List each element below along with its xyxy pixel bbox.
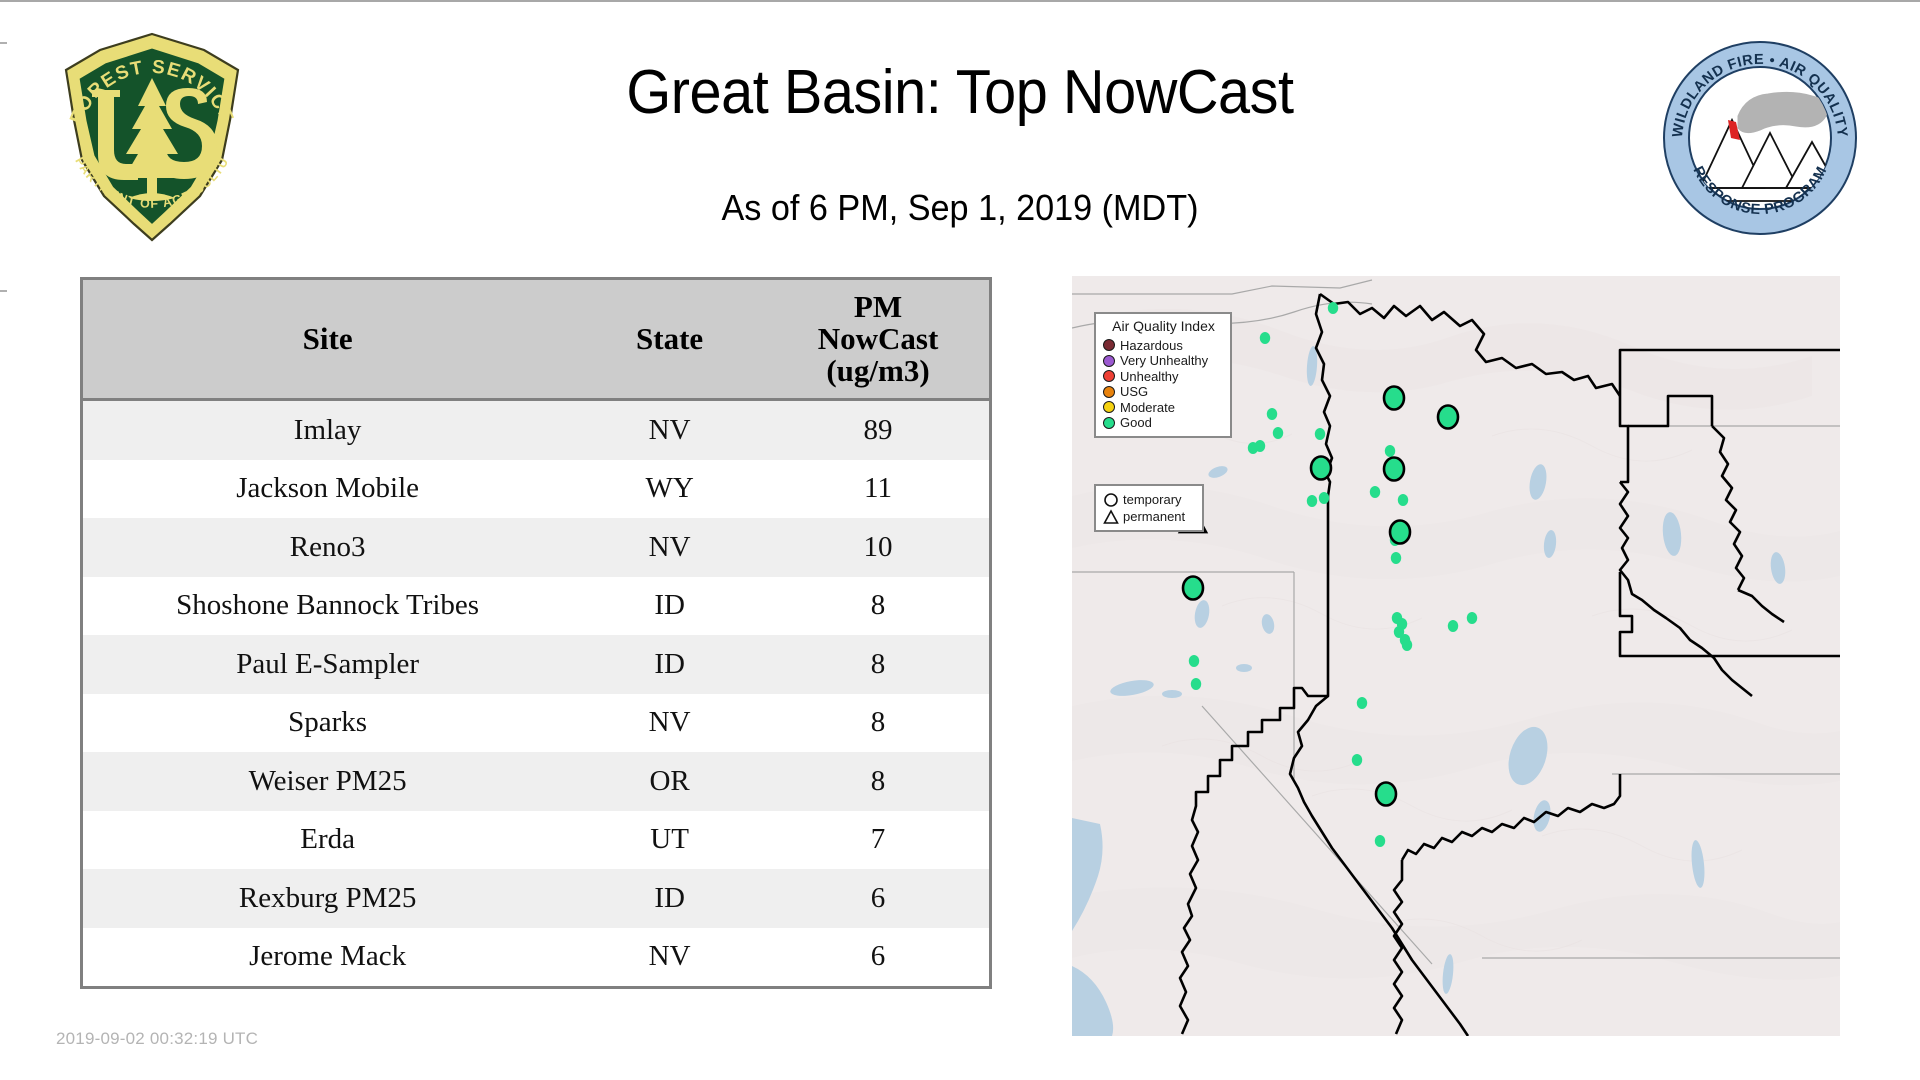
- map-monitor-small[interactable]: [1191, 678, 1201, 690]
- pm-cell: 8: [767, 752, 989, 811]
- map-monitor-temporary[interactable]: [1384, 458, 1404, 481]
- aqi-legend-label: Moderate: [1120, 401, 1175, 414]
- state-cell: ID: [572, 635, 767, 694]
- state-cell: ID: [572, 577, 767, 636]
- map-monitor-small[interactable]: [1319, 492, 1329, 504]
- aqi-legend-label: Hazardous: [1120, 339, 1183, 352]
- aqi-legend-item: Very Unhealthy: [1103, 353, 1224, 369]
- map-monitor-temporary[interactable]: [1311, 457, 1331, 480]
- page-subtitle: As of 6 PM, Sep 1, 2019 (MDT): [48, 187, 1872, 229]
- state-cell: NV: [572, 694, 767, 753]
- map-monitor-temporary[interactable]: [1390, 521, 1410, 544]
- site-cell: Paul E-Sampler: [83, 635, 572, 694]
- legend-row-permanent: permanent: [1103, 508, 1196, 525]
- map-monitor-small[interactable]: [1370, 486, 1380, 498]
- site-cell: Weiser PM25: [83, 752, 572, 811]
- aqi-color-dot-icon: [1103, 417, 1115, 429]
- map-monitor-small[interactable]: [1267, 408, 1277, 420]
- state-cell: NV: [572, 400, 767, 460]
- map-monitor-small[interactable]: [1448, 620, 1458, 632]
- nowcast-table: Site State PM NowCast (ug/m3) ImlayNV89J…: [83, 280, 989, 986]
- map-monitor-small[interactable]: [1391, 552, 1401, 564]
- aqi-legend-items: HazardousVery UnhealthyUnhealthyUSGModer…: [1103, 337, 1224, 430]
- aqi-color-dot-icon: [1103, 355, 1115, 367]
- monitor-type-legend: temporary permanent: [1094, 484, 1204, 532]
- pm-cell: 6: [767, 928, 989, 987]
- slide-root: FOREST SERVICE DEPARTMENT OF AGRICULTURE: [0, 0, 1920, 1080]
- edge-tick-top: [0, 42, 7, 44]
- column-header-pm-nowcast: PM NowCast (ug/m3): [767, 280, 989, 400]
- site-cell: Reno3: [83, 518, 572, 577]
- map-monitor-small[interactable]: [1307, 495, 1317, 507]
- state-cell: ID: [572, 869, 767, 928]
- aqi-legend-label: Good: [1120, 416, 1152, 429]
- aqi-legend-item: Hazardous: [1103, 337, 1224, 353]
- table-row: Jackson MobileWY11: [83, 460, 989, 519]
- pm-header-line-2: NowCast: [818, 321, 939, 356]
- page-title: Great Basin: Top NowCast: [67, 57, 1853, 128]
- pm-cell: 8: [767, 694, 989, 753]
- map-monitor-temporary[interactable]: [1376, 783, 1396, 806]
- table-row: Jerome MackNV6: [83, 928, 989, 987]
- map-monitor-small[interactable]: [1402, 639, 1412, 651]
- map-monitor-small[interactable]: [1255, 440, 1265, 452]
- table-head: Site State PM NowCast (ug/m3): [83, 280, 989, 400]
- state-cell: NV: [572, 518, 767, 577]
- pm-cell: 8: [767, 635, 989, 694]
- aqi-legend: Air Quality Index HazardousVery Unhealth…: [1094, 312, 1232, 438]
- site-cell: Erda: [83, 811, 572, 870]
- pm-cell: 10: [767, 518, 989, 577]
- aqi-legend-item: Moderate: [1103, 399, 1224, 415]
- site-cell: Imlay: [83, 400, 572, 460]
- pm-cell: 7: [767, 811, 989, 870]
- aqi-color-dot-icon: [1103, 401, 1115, 413]
- map-monitor-temporary[interactable]: [1183, 577, 1203, 600]
- aqi-legend-item: Unhealthy: [1103, 368, 1224, 384]
- pm-cell: 89: [767, 400, 989, 460]
- table-row: Reno3NV10: [83, 518, 989, 577]
- state-cell: NV: [572, 928, 767, 987]
- state-cell: OR: [572, 752, 767, 811]
- table-row: Shoshone Bannock TribesID8: [83, 577, 989, 636]
- pm-cell: 6: [767, 869, 989, 928]
- site-cell: Jackson Mobile: [83, 460, 572, 519]
- map-monitor-small[interactable]: [1315, 428, 1325, 440]
- site-cell: Shoshone Bannock Tribes: [83, 577, 572, 636]
- aqi-legend-item: USG: [1103, 384, 1224, 400]
- pm-cell: 11: [767, 460, 989, 519]
- map-monitor-small[interactable]: [1385, 445, 1395, 457]
- pm-header-line-3: (ug/m3): [826, 353, 929, 388]
- triangle-icon: [1103, 509, 1119, 525]
- map-monitor-small[interactable]: [1273, 427, 1283, 439]
- map-monitor-temporary[interactable]: [1384, 387, 1404, 410]
- state-cell: WY: [572, 460, 767, 519]
- aqi-legend-item: Good: [1103, 415, 1224, 431]
- aqi-legend-title: Air Quality Index: [1103, 319, 1224, 334]
- nowcast-table-container: Site State PM NowCast (ug/m3) ImlayNV89J…: [80, 277, 992, 989]
- aqi-color-dot-icon: [1103, 386, 1115, 398]
- edge-tick-mid: [0, 290, 7, 292]
- pm-header-line-1: PM: [854, 289, 902, 324]
- map-monitor-small[interactable]: [1398, 494, 1408, 506]
- column-header-site: Site: [83, 280, 572, 400]
- table-row: ImlayNV89: [83, 400, 989, 460]
- legend-label-temporary: temporary: [1123, 493, 1182, 506]
- aqi-legend-label: Unhealthy: [1120, 370, 1179, 383]
- circle-icon: [1103, 492, 1119, 508]
- table-row: ErdaUT7: [83, 811, 989, 870]
- legend-row-temporary: temporary: [1103, 491, 1196, 508]
- table-body: ImlayNV89Jackson MobileWY11Reno3NV10Shos…: [83, 400, 989, 987]
- aqi-color-dot-icon: [1103, 339, 1115, 351]
- map-monitor-small[interactable]: [1357, 697, 1367, 709]
- aqi-legend-label: Very Unhealthy: [1120, 354, 1208, 367]
- map-monitor-small[interactable]: [1375, 835, 1385, 847]
- site-cell: Rexburg PM25: [83, 869, 572, 928]
- aqi-color-dot-icon: [1103, 370, 1115, 382]
- great-basin-map[interactable]: Air Quality Index HazardousVery Unhealth…: [1072, 276, 1840, 1036]
- map-monitor-small[interactable]: [1328, 302, 1338, 314]
- table-row: Rexburg PM25ID6: [83, 869, 989, 928]
- map-monitor-small[interactable]: [1260, 332, 1270, 344]
- table-header-row: Site State PM NowCast (ug/m3): [83, 280, 989, 400]
- pm-cell: 8: [767, 577, 989, 636]
- map-monitor-small[interactable]: [1467, 612, 1477, 624]
- footer-timestamp: 2019-09-02 00:32:19 UTC: [56, 1029, 258, 1049]
- column-header-state: State: [572, 280, 767, 400]
- table-row: Weiser PM25OR8: [83, 752, 989, 811]
- map-monitor-temporary[interactable]: [1438, 406, 1458, 429]
- state-cell: UT: [572, 811, 767, 870]
- table-row: Paul E-SamplerID8: [83, 635, 989, 694]
- aqi-legend-label: USG: [1120, 385, 1148, 398]
- table-row: SparksNV8: [83, 694, 989, 753]
- site-cell: Sparks: [83, 694, 572, 753]
- map-monitor-small[interactable]: [1189, 655, 1199, 667]
- legend-label-permanent: permanent: [1123, 510, 1185, 523]
- map-monitor-small[interactable]: [1352, 754, 1362, 766]
- site-cell: Jerome Mack: [83, 928, 572, 987]
